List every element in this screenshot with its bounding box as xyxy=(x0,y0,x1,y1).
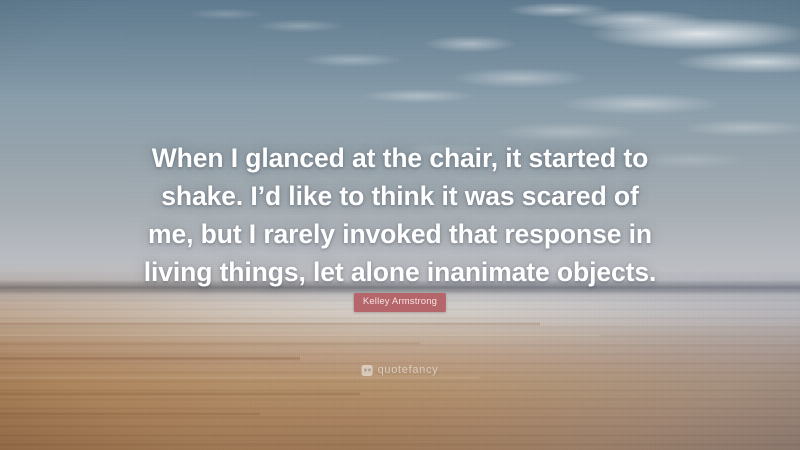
watermark[interactable]: quotefancy xyxy=(362,365,439,376)
poster-content: When I glanced at the chair, it started … xyxy=(0,0,800,450)
author-badge[interactable]: Kelley Armstrong xyxy=(354,293,446,312)
quote-mark-icon xyxy=(362,365,373,376)
watermark-label: quotefancy xyxy=(378,365,439,376)
quote-poster: When I glanced at the chair, it started … xyxy=(0,0,800,450)
quote-text: When I glanced at the chair, it started … xyxy=(126,139,674,291)
